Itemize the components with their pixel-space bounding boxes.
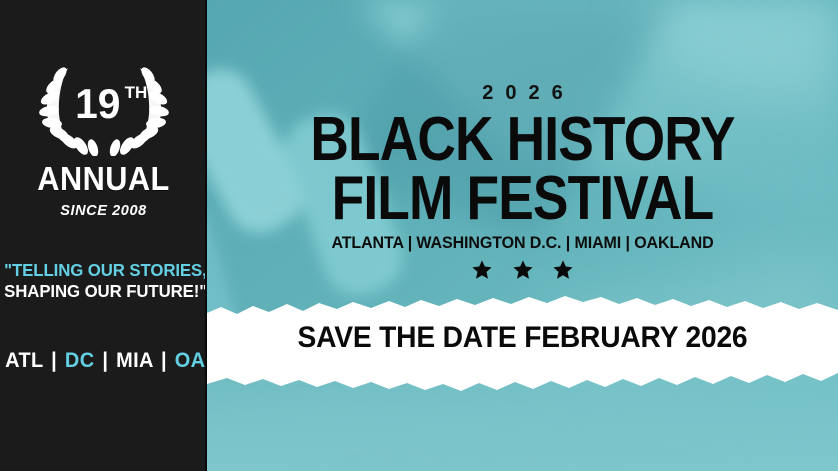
city-code-separator-3: | xyxy=(159,349,169,372)
festival-poster: 19 TH ANNUAL SINCE 2008 "TELLING OUR STO… xyxy=(0,0,838,471)
star-icon xyxy=(512,259,534,280)
panel-divider xyxy=(205,0,207,471)
since-label: SINCE 2008 xyxy=(0,203,207,219)
host-cities: ATLANTA | WASHINGTON D.C. | MIAMI | OAKL… xyxy=(216,234,828,253)
city-code-separator-2: | xyxy=(100,349,110,372)
city-code-mia: MIA xyxy=(116,349,153,372)
right-hero-panel: 2026 BLACK HISTORY FILM FESTIVAL ATLANTA… xyxy=(207,0,838,471)
title-line-1: BLACK HISTORY xyxy=(251,109,794,171)
festival-year: 2026 xyxy=(207,82,838,105)
badge-ordinal-suffix: TH xyxy=(124,83,147,102)
star-icon xyxy=(552,259,574,280)
star-rating-row xyxy=(207,259,838,280)
tagline-line-1: "TELLING OUR STORIES, xyxy=(4,260,203,281)
star-icon xyxy=(471,259,493,280)
city-code-dc: DC xyxy=(65,349,95,372)
city-code-separator-1: | xyxy=(49,349,59,372)
anniversary-badge: 19 TH xyxy=(0,52,207,157)
badge-ordinal: 19 xyxy=(75,80,120,127)
laurel-wreath-icon: 19 TH xyxy=(24,52,184,156)
city-code-atl: ATL xyxy=(5,349,43,372)
save-the-date-text: SAVE THE DATE FEBRUARY 2026 xyxy=(226,321,819,355)
tagline: "TELLING OUR STORIES, SHAPING OUR FUTURE… xyxy=(4,260,203,301)
city-code-list: ATL | DC | MIA | OAK xyxy=(5,349,202,373)
left-info-panel: 19 TH ANNUAL SINCE 2008 "TELLING OUR STO… xyxy=(0,0,207,471)
title-line-2: FILM FESTIVAL xyxy=(251,168,794,230)
city-code-oak: OAK xyxy=(175,349,207,372)
tagline-line-2: SHAPING OUR FUTURE!" xyxy=(4,281,203,302)
annual-label: ANNUAL xyxy=(7,160,200,198)
